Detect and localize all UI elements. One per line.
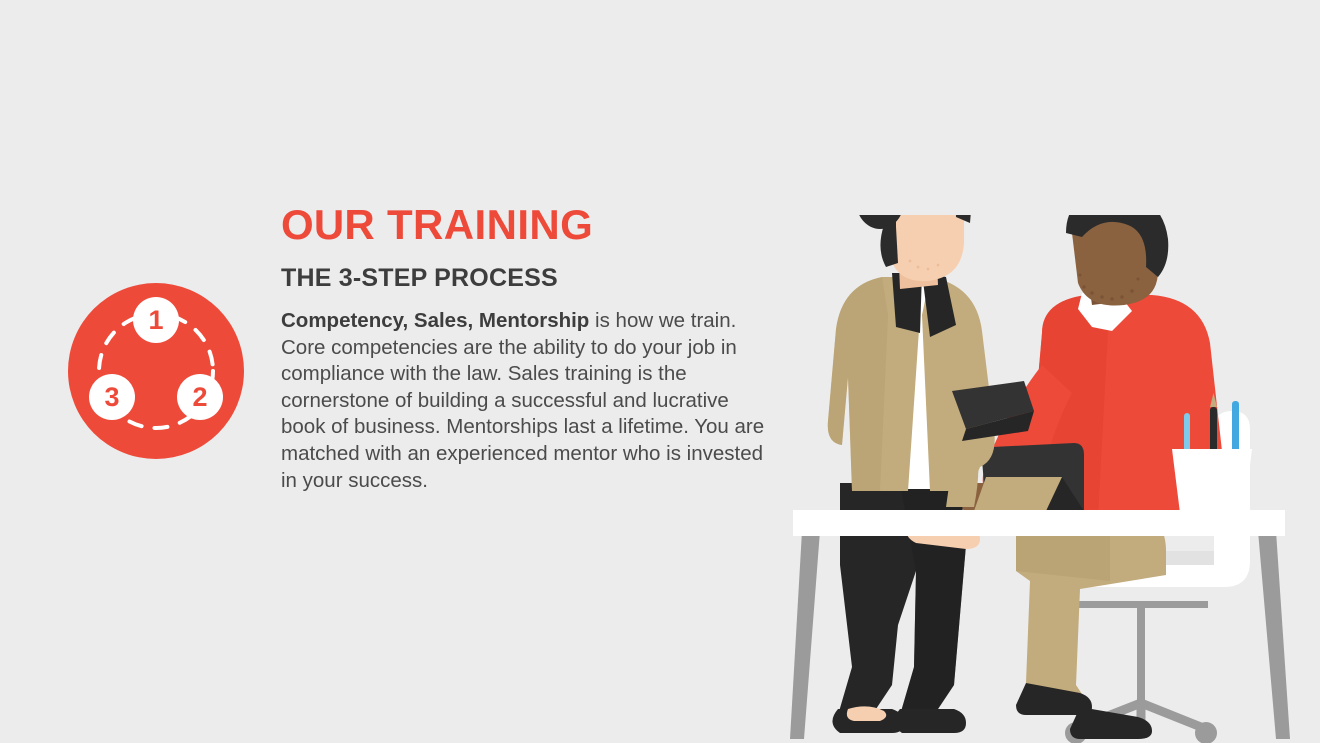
desk-leg-left xyxy=(790,531,820,739)
page-title-strong: OUR xyxy=(281,201,375,248)
woman-foot-skin xyxy=(847,706,886,721)
page-subtitle: THE 3-STEP PROCESS xyxy=(281,264,777,293)
badge-step-3-number: 3 xyxy=(104,382,119,412)
page-title: OUR TRAINING xyxy=(281,203,777,247)
badge-step-3[interactable]: 3 xyxy=(89,374,135,420)
woman-shoe-right xyxy=(894,709,966,733)
badge-graphic: 1 2 3 xyxy=(68,283,244,459)
badge-step-1[interactable]: 1 xyxy=(133,297,179,343)
three-step-badge: 1 2 3 xyxy=(68,283,244,459)
copy-block: OUR TRAINING THE 3-STEP PROCESS Competen… xyxy=(281,203,777,494)
body-paragraph: Competency, Sales, Mentorship is how we … xyxy=(281,308,773,494)
chair-column xyxy=(1137,607,1145,707)
desk-leg-right xyxy=(1258,531,1290,739)
office-illustration-graphic xyxy=(780,215,1320,743)
badge-step-2-number: 2 xyxy=(192,382,207,412)
slide-canvas: 1 2 3 OUR TRAINING THE 3-STEP PROCESS Co… xyxy=(0,0,1320,743)
woman-hair-side xyxy=(880,225,898,267)
page-title-light: TRAINING xyxy=(375,201,593,248)
cup-body xyxy=(1172,449,1252,513)
body-lead-terms: Competency, Sales, Mentorship xyxy=(281,309,589,332)
chair-seat-bar xyxy=(1076,601,1208,608)
body-rest: is how we train. Core competencies are t… xyxy=(281,309,764,492)
woman-jacket-shade xyxy=(828,277,888,491)
desk-top xyxy=(793,510,1285,536)
chair-caster-right xyxy=(1195,722,1217,743)
badge-step-1-number: 1 xyxy=(148,305,163,335)
woman-face xyxy=(890,215,964,281)
office-illustration xyxy=(780,215,1320,743)
badge-step-2[interactable]: 2 xyxy=(177,374,223,420)
